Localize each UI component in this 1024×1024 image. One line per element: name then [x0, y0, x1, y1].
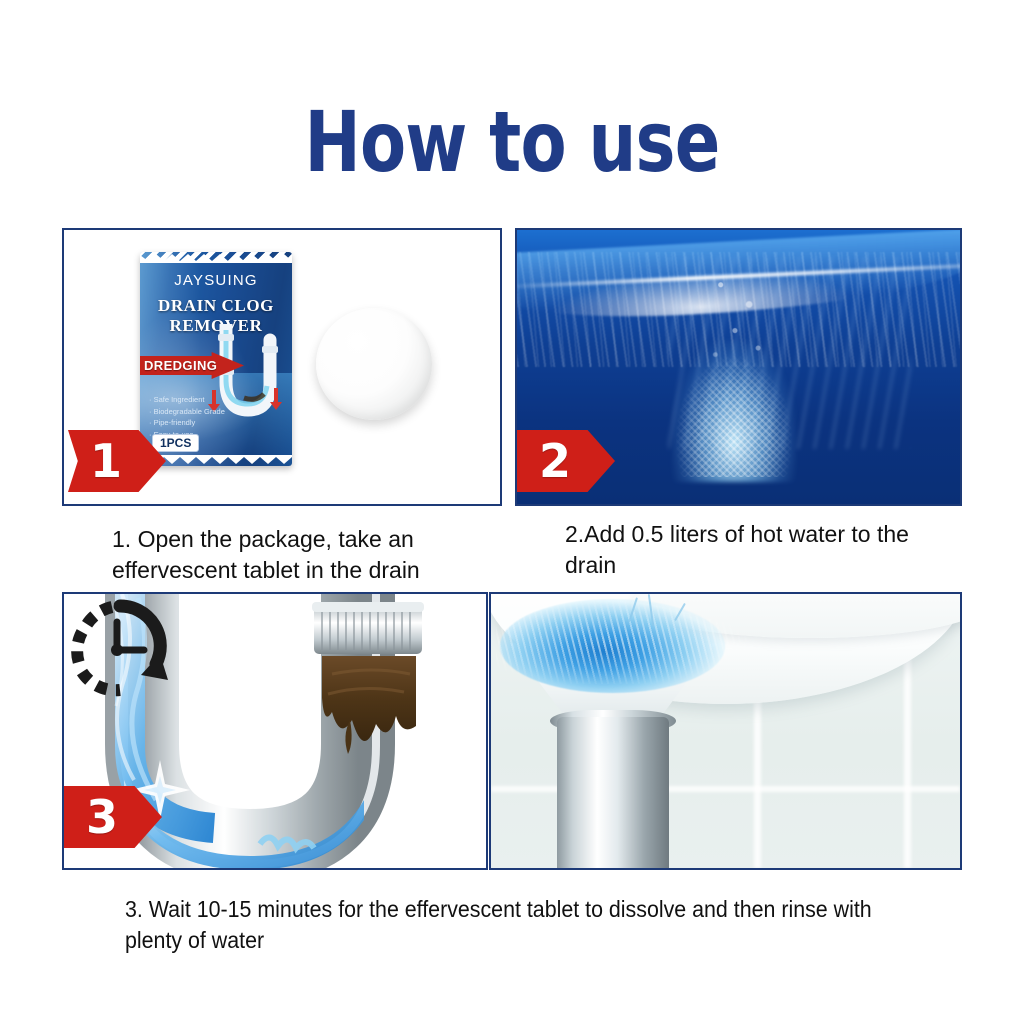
feature-item: · Biodegradable Grade [149, 406, 225, 418]
water-foam-texture [496, 602, 749, 684]
product-brand: JAYSUING [140, 272, 292, 289]
page-title: How to use [102, 96, 921, 188]
product-name-line1: DRAIN CLOG [140, 296, 292, 316]
bubble-fizz-texture [676, 356, 791, 477]
step-2-caption: 2.Add 0.5 liters of hot water to the dra… [565, 519, 965, 581]
feature-item: · Safe Ingredient [149, 394, 225, 406]
chrome-drain-pipe [557, 717, 670, 868]
feature-item: · Pipe-friendly [149, 417, 225, 429]
infographic-page: How to use JAYSUING DRAIN CLOG REMOVER D… [0, 0, 1024, 1024]
sink-drain-scene [491, 594, 960, 868]
step-1-caption: 1. Open the package, take an effervescen… [112, 524, 512, 586]
step-4-panel [489, 592, 962, 870]
sachet-top-serration [140, 252, 292, 263]
quantity-badge: 1PCS [152, 434, 199, 452]
product-sachet: JAYSUING DRAIN CLOG REMOVER DREDGING · S… [140, 252, 292, 466]
step-3-caption: 3. Wait 10-15 minutes for the effervesce… [125, 894, 897, 956]
effervescent-tablet [316, 308, 432, 420]
clock-rotate-icon [64, 594, 176, 710]
